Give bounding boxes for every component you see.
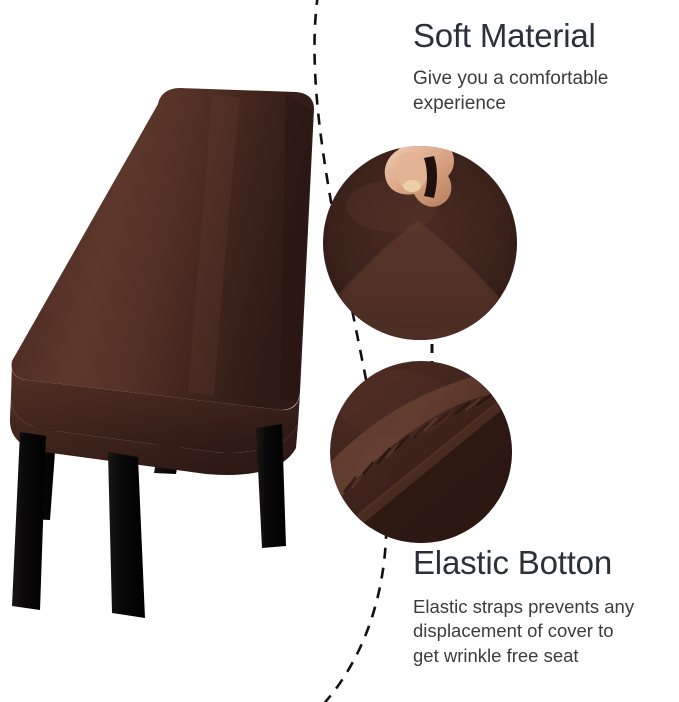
elastic-bottom-description-line-3: get wrinkle free seat <box>413 644 679 668</box>
elastic-bottom-description-line-2: displacement of cover to <box>413 619 679 643</box>
main-dashed-curve <box>314 0 386 702</box>
soft-material-description: Give you a comfortable experience <box>413 66 675 116</box>
chair-leg-front-center <box>108 452 145 618</box>
soft-material-description-line-2: experience <box>413 91 675 116</box>
elastic-bottom-description-line-1: Elastic straps prevents any <box>413 595 679 619</box>
elastic-bottom-feature: Elastic Botton Elastic straps prevents a… <box>413 545 679 668</box>
soft-material-detail-circle <box>297 139 544 360</box>
chair-back <box>12 88 314 410</box>
chair-leg-front-right <box>256 424 286 548</box>
chair-leg-front-left <box>12 432 46 610</box>
fingernail <box>403 180 421 192</box>
elastic-bottom-description: Elastic straps prevents any displacement… <box>413 595 679 668</box>
infographic-canvas: Soft Material Give you a comfortable exp… <box>0 0 679 702</box>
soft-material-headline: Soft Material <box>413 18 675 55</box>
soft-material-description-line-1: Give you a comfortable <box>413 66 675 91</box>
soft-material-feature: Soft Material Give you a comfortable exp… <box>413 18 675 116</box>
chair-with-cover <box>10 88 314 618</box>
elastic-bottom-detail-circle <box>320 361 520 546</box>
elastic-bottom-headline: Elastic Botton <box>413 545 679 582</box>
